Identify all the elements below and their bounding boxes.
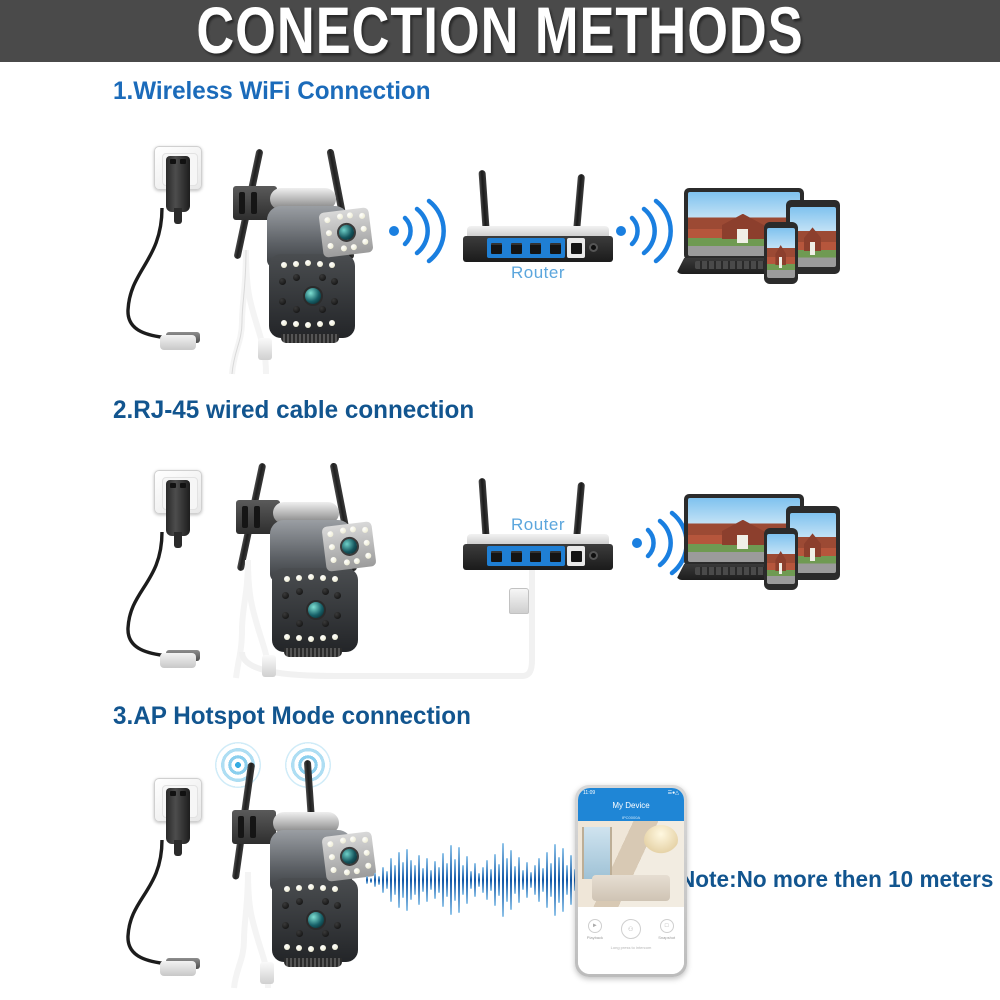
app-screen: 11:09 ☰●△ My Device IPC0000A Long press … xyxy=(578,788,684,974)
app-device-id: IPC0000A xyxy=(578,813,684,821)
diagram-ap-hotspot: 11:09 ☰●△ My Device IPC0000A Long press … xyxy=(0,0,1000,1000)
power-adapter-icon xyxy=(166,480,190,536)
dc-connector-female xyxy=(160,961,196,976)
app-live-video-feed[interactable] xyxy=(578,821,684,907)
feed-scene-sofa xyxy=(592,875,670,901)
camera-wall-bracket xyxy=(232,810,276,844)
power-adapter-icon xyxy=(166,156,190,212)
phone-video-feed xyxy=(767,228,795,278)
app-intercom-hint: Long press to intercom xyxy=(578,945,684,950)
snapshot-icon: □ xyxy=(660,919,674,933)
status-icons: ☰●△ xyxy=(668,790,679,796)
snapshot-label: Snapshot xyxy=(658,935,675,940)
phone-video-feed xyxy=(767,534,795,584)
app-control-bar: Long press to intercom ► Playback ⚇ □ Sn… xyxy=(578,907,684,974)
audio-waveform-icon xyxy=(366,838,608,922)
phone-status-bar: 11:09 ☰●△ xyxy=(578,788,684,798)
playback-icon: ► xyxy=(588,919,602,933)
adapter-neck xyxy=(174,532,182,548)
microphone-icon: ⚇ xyxy=(621,919,641,939)
snapshot-button[interactable]: □ Snapshot xyxy=(658,919,675,940)
power-adapter-icon xyxy=(166,788,190,844)
phone-icon xyxy=(764,528,798,590)
camera-secondary-lens-icon xyxy=(339,846,360,867)
playback-button[interactable]: ► Playback xyxy=(587,919,603,940)
app-title-bar: My Device xyxy=(578,798,684,813)
status-time: 11:09 xyxy=(583,790,595,796)
adapter-neck xyxy=(174,208,182,224)
adapter-neck xyxy=(174,840,182,856)
phone-icon xyxy=(764,222,798,284)
playback-label: Playback xyxy=(587,935,603,940)
intercom-button[interactable]: ⚇ xyxy=(621,919,641,941)
cable-connector-end xyxy=(260,962,274,984)
mobile-app-phone[interactable]: 11:09 ☰●△ My Device IPC0000A Long press … xyxy=(575,785,687,977)
